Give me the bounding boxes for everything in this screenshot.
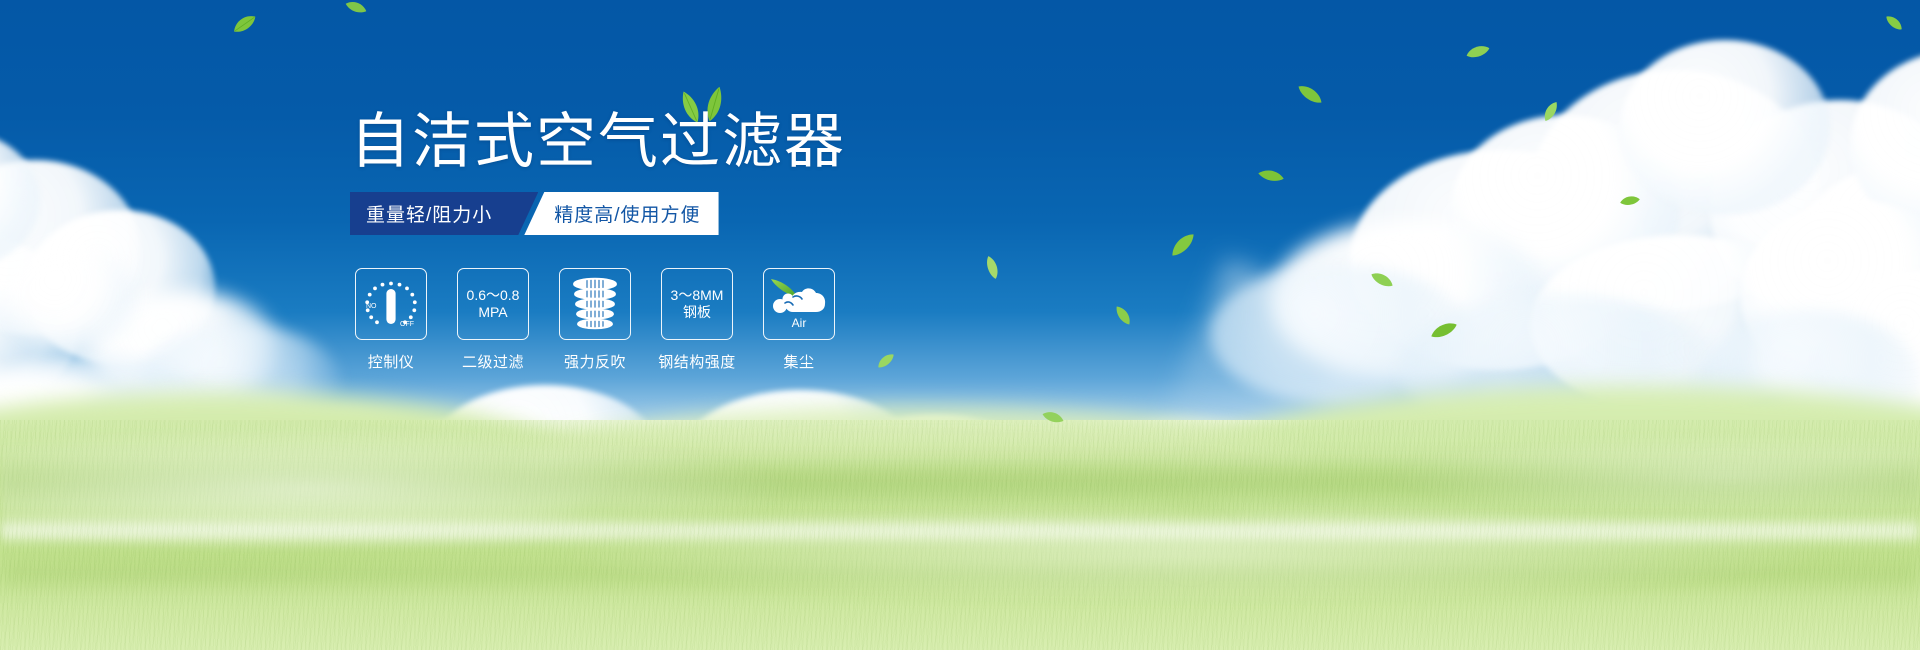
- badge-primary: 重量轻/阻力小: [350, 192, 538, 235]
- air-cloud-icon: Air: [763, 268, 835, 340]
- feature-caption: 集尘: [783, 351, 814, 372]
- steel-plate-value: 3～8MM 钢板: [671, 287, 724, 320]
- feature-item-dust[interactable]: Air 集尘: [763, 268, 835, 372]
- control-dial-icon: NO OFF: [355, 268, 427, 340]
- svg-text:Air: Air: [792, 316, 807, 330]
- pressure-text-icon: 0.6～0.8 MPA: [457, 268, 529, 340]
- feature-caption: 钢结构强度: [658, 351, 736, 372]
- svg-text:NO: NO: [366, 303, 377, 310]
- subtitle-badges: 重量轻/阻力小 精度高/使用方便: [350, 192, 719, 235]
- badge-secondary-label: 精度高/使用方便: [554, 200, 700, 227]
- feature-item-blowback[interactable]: 强力反吹: [559, 268, 631, 372]
- banner-stage: 自洁式空气过滤器 重量轻/阻力小 精度高/使用方便: [0, 0, 1920, 650]
- badge-primary-label: 重量轻/阻力小: [366, 200, 492, 227]
- feature-caption: 控制仪: [368, 351, 415, 372]
- page-title: 自洁式空气过滤器: [350, 112, 846, 172]
- banner-content: 自洁式空气过滤器 重量轻/阻力小 精度高/使用方便: [0, 0, 1920, 650]
- feature-item-control[interactable]: NO OFF 控制仪: [355, 268, 427, 372]
- steel-plate-text-icon: 3～8MM 钢板: [661, 268, 733, 340]
- feature-list: NO OFF 控制仪 0.6～0.8 MPA 二级过滤: [355, 268, 835, 372]
- feature-caption: 二级过滤: [462, 351, 524, 372]
- badge-secondary: 精度高/使用方便: [524, 192, 718, 235]
- pressure-value: 0.6～0.8 MPA: [467, 287, 520, 320]
- filter-cartridge-icon: [559, 268, 631, 340]
- feature-item-steel[interactable]: 3～8MM 钢板 钢结构强度: [661, 268, 733, 372]
- svg-text:OFF: OFF: [400, 321, 414, 328]
- feature-item-pressure[interactable]: 0.6～0.8 MPA 二级过滤: [457, 268, 529, 372]
- feature-caption: 强力反吹: [564, 351, 626, 372]
